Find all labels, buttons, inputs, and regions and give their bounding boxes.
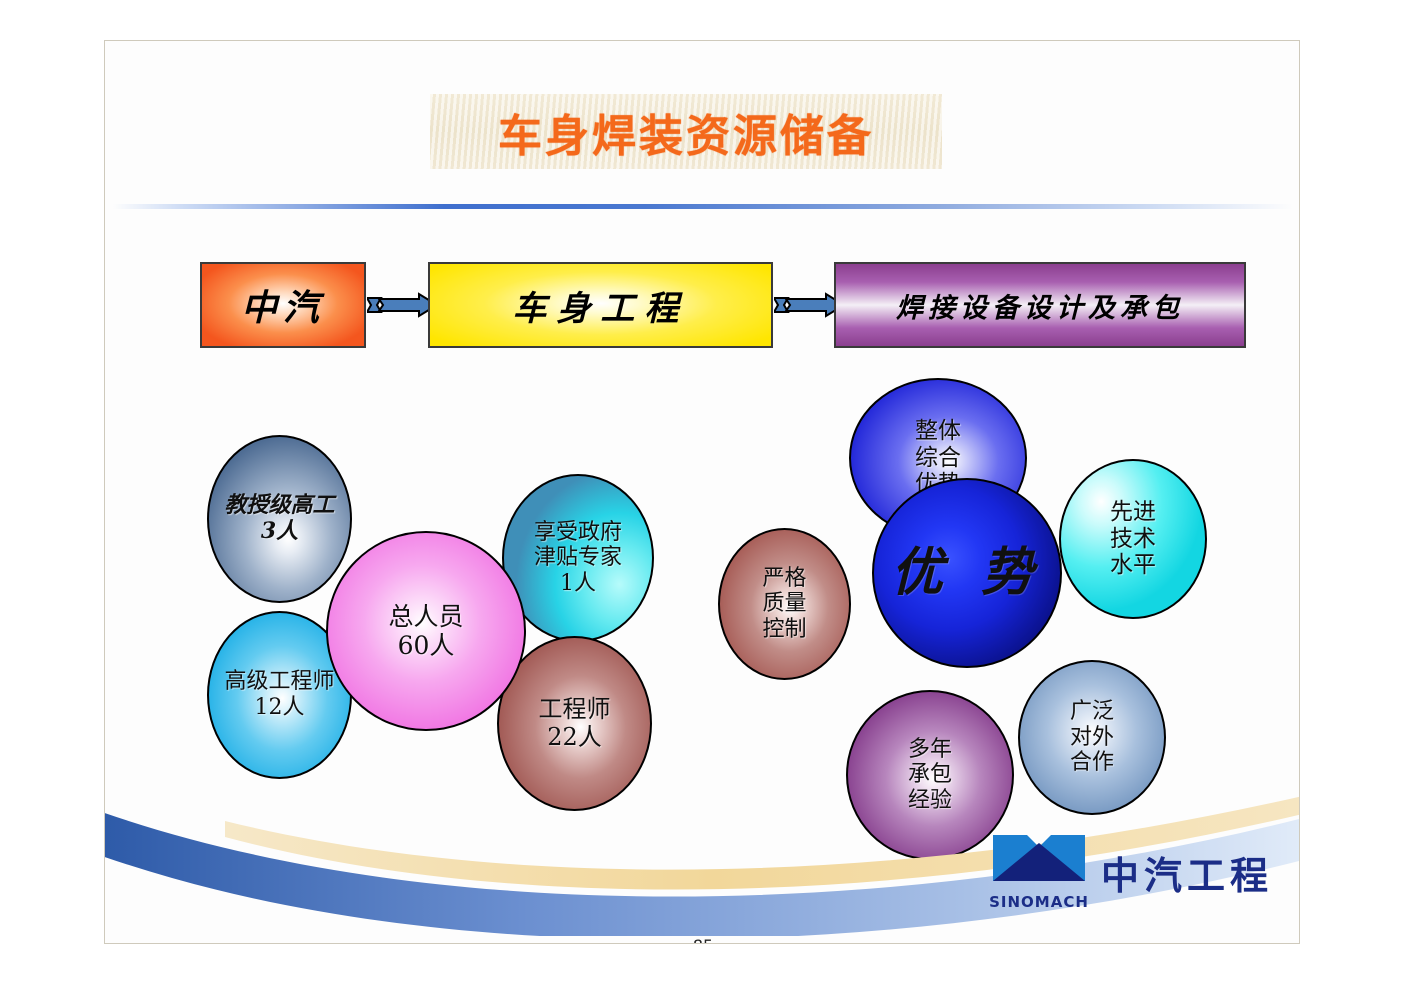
sinomach-mark-icon — [983, 829, 1095, 891]
bubble-government-allowance-expert-label: 享受政府 津贴专家 1人 — [534, 520, 622, 597]
flow-box-welding-equipment: 焊接设备设计及承包 — [834, 262, 1246, 348]
bubble-advanced-technology-label: 先进 技术 水平 — [1110, 499, 1156, 579]
sinomach-wordmark: 中汽工程 — [1101, 845, 1273, 900]
bubble-total-staff: 总人员 60人 — [326, 531, 526, 731]
slide-canvas: 车身焊装资源储备 中汽 车身工程 焊接设备设计及承包 教授级高工 3人 高级工程… — [104, 40, 1300, 944]
bubble-strict-quality-control-label: 严格 质量 控制 — [762, 566, 806, 643]
page-number-value: 85 — [686, 936, 720, 944]
bubble-total-staff-label: 总人员 60人 — [388, 602, 463, 660]
bubble-strict-quality-control: 严格 质量 控制 — [718, 528, 851, 680]
page-title: 车身焊装资源储备 — [498, 100, 874, 164]
flow-box-zhongqi-label: 中汽 — [241, 279, 325, 331]
title-divider-rule — [113, 204, 1293, 209]
page-number: 85 — [105, 936, 1300, 944]
flow-box-zhongqi: 中汽 — [200, 262, 366, 348]
bubble-advantage-center: 优 势 — [872, 478, 1062, 668]
bubble-advanced-technology: 先进 技术 水平 — [1059, 459, 1207, 619]
sinomach-logo: SINOMACH 中汽工程 — [983, 829, 1253, 921]
slide-title-band: 车身焊装资源储备 — [430, 94, 942, 169]
bubble-professor-level-engineer: 教授级高工 3人 — [207, 435, 352, 603]
bubble-senior-engineer-label: 高级工程师 12人 — [224, 669, 334, 720]
flow-box-welding-equipment-label: 焊接设备设计及承包 — [896, 286, 1184, 325]
flow-box-body-engineering: 车身工程 — [428, 262, 773, 348]
bubble-advantage-center-label: 优 势 — [891, 543, 1043, 603]
flow-box-body-engineering-label: 车身工程 — [513, 281, 689, 330]
bubble-professor-level-engineer-label: 教授级高工 3人 — [224, 493, 334, 544]
sinomach-subtext: SINOMACH — [983, 893, 1095, 911]
